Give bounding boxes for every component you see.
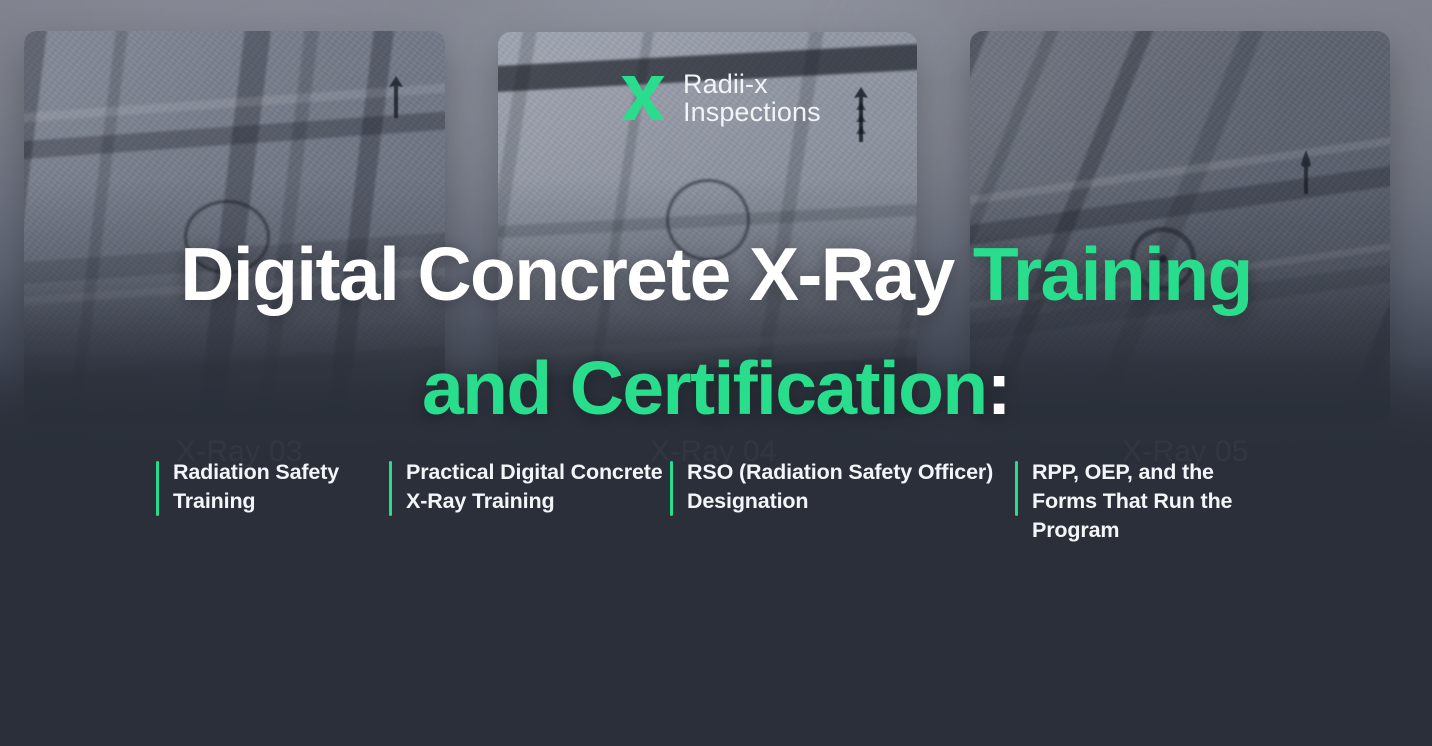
topic-list: Radiation Safety Training Practical Digi… (156, 458, 1276, 545)
direction-arrow-icon (386, 74, 406, 120)
topic-item-practical-digital-concrete-xray-training[interactable]: Practical Digital Concrete X-Ray Trainin… (389, 458, 670, 545)
page-title-white-1: Digital Concrete X-Ray (180, 232, 973, 316)
page-title-white-2: : (987, 346, 1010, 430)
topic-label: Practical Digital Concrete X-Ray Trainin… (406, 458, 670, 516)
page-title-accent-2: and Certification (422, 346, 987, 430)
radii-x-logo-icon (620, 74, 666, 122)
page-title: Digital Concrete X-Ray Trainingand Certi… (0, 246, 1432, 417)
topic-label: RSO (Radiation Safety Officer) Designati… (687, 458, 1015, 516)
anchor-marker-icon (1298, 149, 1314, 195)
topic-item-rso-designation[interactable]: RSO (Radiation Safety Officer) Designati… (670, 458, 1015, 545)
page-title-accent-1: Training (973, 232, 1252, 316)
topic-label: Radiation Safety Training (173, 458, 389, 516)
page-title-line-2: and Certification: (120, 360, 1312, 417)
direction-arrow-icon (850, 86, 872, 144)
topic-item-radiation-safety-training[interactable]: Radiation Safety Training (156, 458, 389, 545)
topic-item-rpp-oep-forms[interactable]: RPP, OEP, and the Forms That Run the Pro… (1015, 458, 1276, 545)
brand-logo[interactable]: Radii-x Inspections (620, 70, 821, 126)
page-title-line-1: Digital Concrete X-Ray Training (120, 246, 1312, 303)
slide-root: Radii-x Inspections Digital Concrete X-R… (0, 0, 1432, 746)
brand-name: Radii-x Inspections (683, 70, 821, 126)
topic-label: RPP, OEP, and the Forms That Run the Pro… (1032, 458, 1276, 545)
